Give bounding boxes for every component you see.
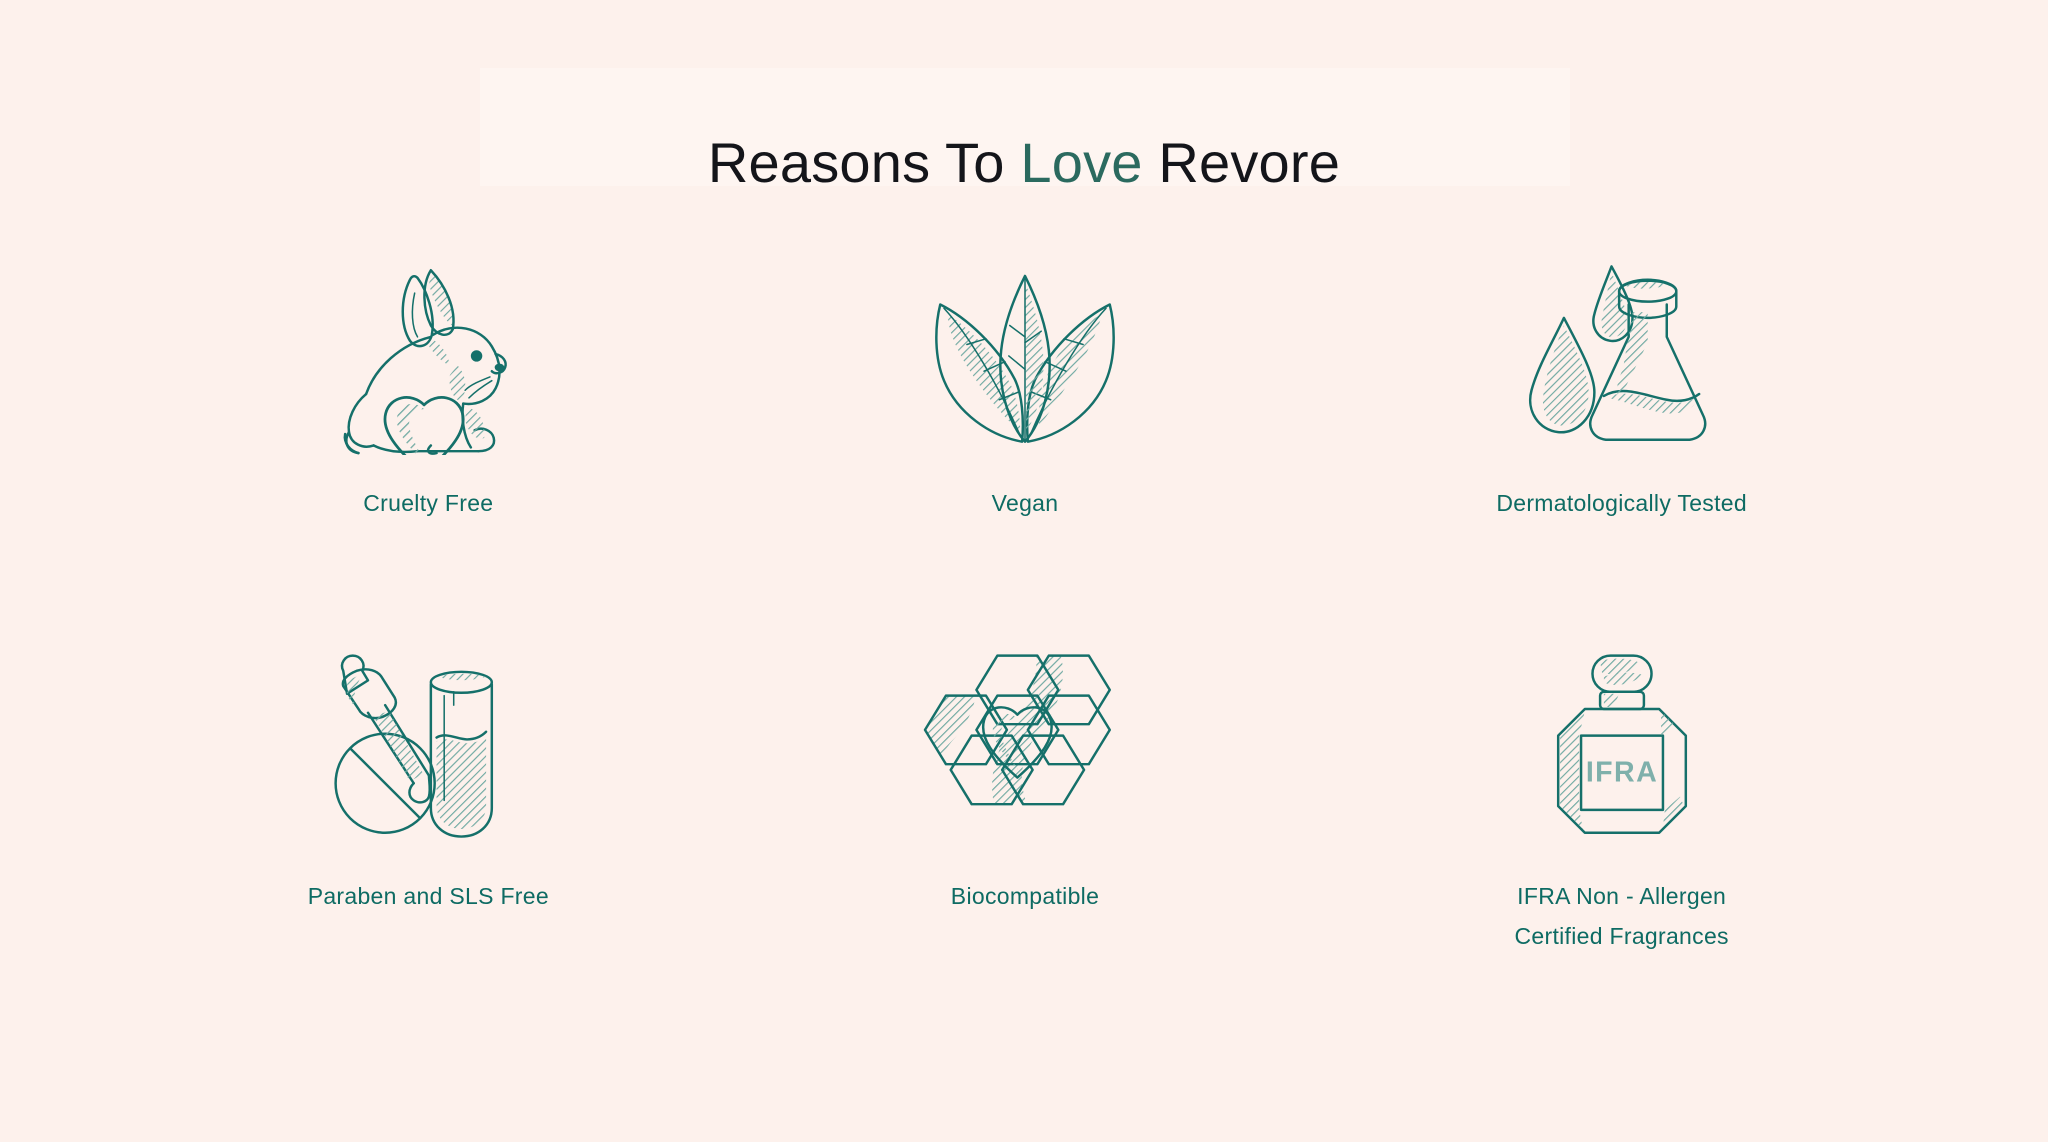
leaves-plant-icon [910,255,1140,455]
feature-grid-page: Reasons To Love Revore [0,0,2048,1142]
feature-label: IFRA Non - Allergen Certified Fragrances [1514,876,1728,956]
perfume-ifra-text: IFRA [1585,756,1657,788]
feature-label: Vegan [992,483,1059,523]
page-title: Reasons To Love Revore [0,130,2048,195]
feature-item-biocompatible: Biocompatible [727,648,1324,953]
rabbit-heart-icon [313,255,543,455]
page-title-before: Reasons To [708,131,1020,194]
page-title-accent: Love [1020,131,1142,194]
perfume-bottle-ifra-icon: IFRA [1507,648,1737,848]
features-grid: Cruelty Free [130,255,1920,953]
feature-label: Biocompatible [951,876,1099,916]
flask-droplet-icon [1507,255,1737,455]
honeycomb-heart-icon [910,648,1140,848]
feature-item-paraben-sls-free: Paraben and SLS Free [130,648,727,953]
feature-item-dermatologically-tested: Dermatologically Tested [1323,255,1920,560]
feature-item-vegan: Vegan [727,255,1324,560]
dropper-no-testtube-icon [313,648,543,848]
feature-item-ifra-fragrances: IFRA IFRA Non - Allergen Certified Fragr… [1323,648,1920,953]
feature-label: Paraben and SLS Free [308,876,549,916]
page-title-after: Revore [1143,131,1340,194]
feature-label: Cruelty Free [363,483,493,523]
feature-item-cruelty-free: Cruelty Free [130,255,727,560]
feature-label: Dermatologically Tested [1496,483,1747,523]
